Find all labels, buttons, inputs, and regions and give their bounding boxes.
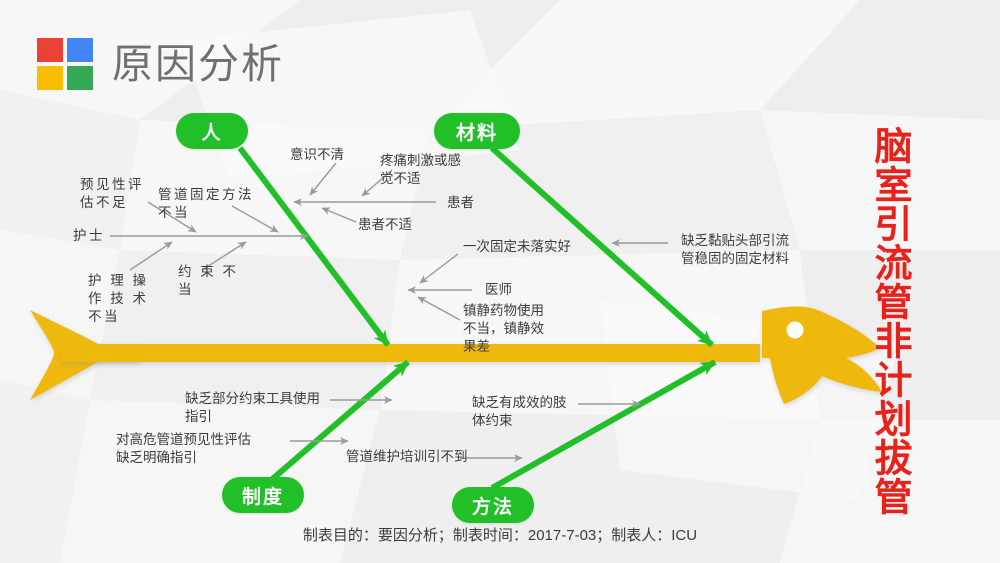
cause-label-c12: 镇静药物使用 不当，镇静效 果差 [463, 302, 544, 356]
logo-cell-blue [67, 38, 93, 62]
cause-label-c8: 患者 [447, 194, 474, 212]
cause-label-c13: 缺乏黏贴头部引流 管稳固的固定材料 [681, 232, 789, 268]
category-pill-person[interactable]: 人 [176, 113, 248, 149]
cause-label-c3: 护士 [73, 227, 105, 245]
cause-label-c6: 意识不清 [290, 146, 344, 164]
slide-canvas: 原因分析 脑室引流管非计划拔管 人 材料 制度 方法 预见性评 估不足 管道固定… [0, 0, 1000, 563]
vertical-effect-title: 脑室引流管非计划拔管 [856, 126, 908, 516]
cause-label-c16: 缺乏有成效的肢 体约束 [472, 394, 567, 430]
page-title: 原因分析 [112, 36, 284, 92]
cause-label-c1: 预见性评 估不足 [80, 176, 144, 212]
cause-label-c14: 缺乏部分约束工具使用 指引 [185, 390, 320, 426]
logo-cell-red [37, 38, 63, 62]
content-layer: 原因分析 脑室引流管非计划拔管 人 材料 制度 方法 预见性评 估不足 管道固定… [0, 0, 1000, 563]
cause-label-c10: 一次固定未落实好 [463, 238, 571, 256]
cause-label-c5: 约 束 不 当 [178, 263, 239, 299]
cause-label-c7: 疼痛刺激或感 觉不适 [380, 152, 461, 188]
category-pill-method[interactable]: 方法 [452, 487, 534, 523]
category-pill-system[interactable]: 制度 [222, 477, 304, 513]
cause-label-c17: 管道维护培训引不到 [346, 448, 468, 466]
cause-label-c2: 管道固定方法 不当 [158, 186, 254, 222]
logo-cell-yellow [37, 66, 63, 90]
category-pill-material[interactable]: 材料 [434, 113, 520, 149]
logo-cell-green [67, 66, 93, 90]
cause-label-c15: 对高危管道预见性评估 缺乏明确指引 [116, 431, 251, 467]
footer-note: 制表目的：要因分析；制表时间：2017-7-03；制表人：ICU [0, 524, 1000, 545]
cause-label-c4: 护 理 操 作 技 术 不当 [88, 272, 149, 326]
cause-label-c9: 患者不适 [358, 216, 412, 234]
brand-logo [37, 38, 93, 90]
cause-label-c11: 医师 [485, 281, 512, 299]
